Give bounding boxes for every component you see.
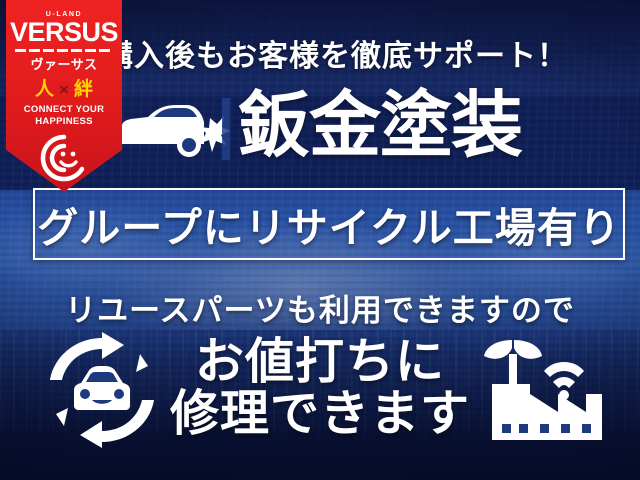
smiley-c-emblem-icon bbox=[39, 133, 89, 183]
reuse-parts-text: リユースパーツも利用できますので bbox=[0, 285, 640, 330]
recycle-factory-text: グループにリサイクル工場有り bbox=[37, 194, 621, 254]
eco-factory-icon bbox=[478, 332, 610, 448]
logo-tagline: CONNECT YOUR HAPPINESS bbox=[6, 104, 122, 128]
logo-bond-kanji: 絆 bbox=[74, 79, 93, 100]
logo-versus-wordmark: VERSUS bbox=[6, 19, 122, 46]
logo-tagline-line-1: CONNECT YOUR bbox=[6, 104, 122, 116]
logo-cross-mark: × bbox=[59, 80, 69, 99]
logo-people-kanji: 人 bbox=[35, 79, 54, 100]
promo-banner: ご購入後もお客様を徹底サポート！ 鈑金塗装 グループにリサイクル工場有り リユー… bbox=[0, 0, 640, 480]
logo-people-bond: 人×絆 bbox=[6, 80, 122, 100]
recycle-factory-box: グループにリサイクル工場有り bbox=[33, 188, 625, 260]
car-recycle-icon bbox=[44, 332, 160, 448]
logo-tagline-line-2: HAPPINESS bbox=[6, 116, 122, 128]
headline-text: 鈑金塗装 bbox=[238, 90, 522, 162]
logo-divider-rule bbox=[15, 49, 113, 52]
car-crash-icon bbox=[118, 98, 230, 160]
logo-versus-kana: ヴァーサス bbox=[6, 54, 122, 73]
